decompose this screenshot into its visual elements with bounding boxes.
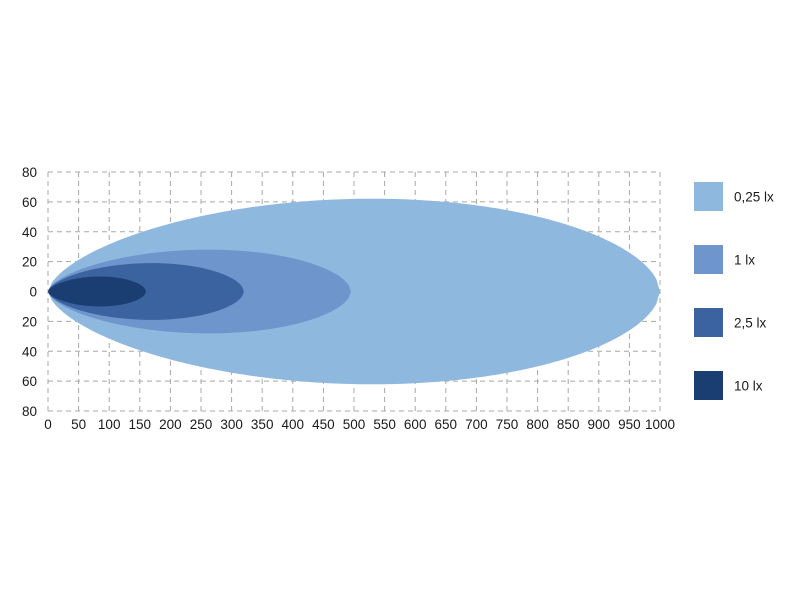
x-tick-label: 950 xyxy=(618,417,641,432)
x-tick-label: 450 xyxy=(312,417,335,432)
legend-label: 2,5 lx xyxy=(734,316,767,331)
x-tick-label: 1000 xyxy=(645,417,675,432)
chart-legend: 0,25 lx1 lx2,5 lx10 lx xyxy=(694,182,774,400)
legend-label: 0,25 lx xyxy=(734,190,774,205)
x-tick-label: 200 xyxy=(159,417,182,432)
x-tick-label: 750 xyxy=(496,417,519,432)
x-tick-label: 500 xyxy=(343,417,366,432)
legend-swatch xyxy=(694,245,723,274)
x-tick-label: 100 xyxy=(98,417,121,432)
chart-canvas: 0501001502002503003504004505005506006507… xyxy=(0,0,800,600)
legend-swatch xyxy=(694,182,723,211)
y-tick-label: 40 xyxy=(22,225,37,240)
x-tick-label: 350 xyxy=(251,417,274,432)
y-tick-label: 80 xyxy=(22,404,37,419)
light-distribution-chart: 0501001502002503003504004505005506006507… xyxy=(0,0,800,600)
x-tick-label: 900 xyxy=(588,417,611,432)
legend-swatch xyxy=(694,371,723,400)
legend-label: 1 lx xyxy=(734,253,755,268)
x-tick-label: 250 xyxy=(190,417,213,432)
legend-label: 10 lx xyxy=(734,379,763,394)
y-tick-label: 20 xyxy=(22,314,37,329)
x-tick-label: 50 xyxy=(71,417,86,432)
y-tick-label: 80 xyxy=(22,165,37,180)
legend-swatch xyxy=(694,308,723,337)
x-tick-label: 150 xyxy=(129,417,152,432)
x-tick-label: 700 xyxy=(465,417,488,432)
x-tick-label: 600 xyxy=(404,417,427,432)
x-tick-label: 850 xyxy=(557,417,580,432)
x-tick-label: 400 xyxy=(282,417,305,432)
y-tick-label: 0 xyxy=(29,285,37,300)
x-axis-tick-labels: 0501001502002503003504004505005506006507… xyxy=(44,417,675,432)
y-tick-label: 60 xyxy=(22,195,37,210)
y-tick-label: 20 xyxy=(22,255,37,270)
x-tick-label: 300 xyxy=(220,417,243,432)
x-tick-label: 800 xyxy=(526,417,549,432)
y-tick-label: 60 xyxy=(22,374,37,389)
x-tick-label: 0 xyxy=(44,417,52,432)
x-tick-label: 550 xyxy=(373,417,396,432)
x-tick-label: 650 xyxy=(435,417,458,432)
y-tick-label: 40 xyxy=(22,344,37,359)
y-axis-tick-labels: 80604020020406080 xyxy=(22,165,37,419)
